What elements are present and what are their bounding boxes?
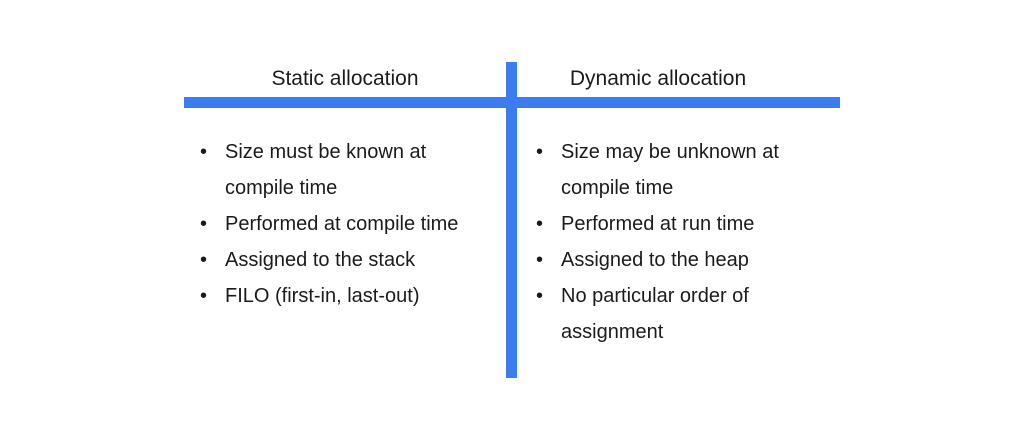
list-item: • Assigned to the heap	[535, 242, 845, 278]
list-item-label: Assigned to the stack	[225, 242, 499, 278]
bullet-point-icon: •	[200, 278, 214, 314]
vertical-divider-rule	[506, 62, 517, 378]
list-item-label: Performed at compile time	[225, 206, 499, 242]
list-item-label: Size must be known at compile time	[225, 134, 499, 206]
list-item-label: Performed at run time	[561, 206, 845, 242]
list-item: • Size must be known at compile time	[199, 134, 499, 206]
column-body-dynamic: • Size may be unknown at compile time • …	[535, 134, 845, 350]
list-item: • Performed at run time	[535, 206, 845, 242]
bullet-point-icon: •	[536, 278, 550, 314]
comparison-slide: Static allocation Dynamic allocation • S…	[0, 0, 1024, 431]
bullet-point-icon: •	[536, 206, 550, 242]
list-item: • No particular order of assignment	[535, 278, 845, 350]
column-header-dynamic: Dynamic allocation	[517, 64, 799, 94]
bullet-point-icon: •	[200, 206, 214, 242]
list-item: • Size may be unknown at compile time	[535, 134, 845, 206]
bullet-list-dynamic: • Size may be unknown at compile time • …	[535, 134, 845, 350]
bullet-point-icon: •	[200, 134, 214, 170]
list-item: • Performed at compile time	[199, 206, 499, 242]
bullet-list-static: • Size must be known at compile time • P…	[199, 134, 499, 314]
list-item-label: No particular order of assignment	[561, 278, 845, 350]
bullet-point-icon: •	[536, 134, 550, 170]
bullet-point-icon: •	[200, 242, 214, 278]
list-item: • FILO (first-in, last-out)	[199, 278, 499, 314]
column-header-static: Static allocation	[184, 64, 506, 94]
list-item: • Assigned to the stack	[199, 242, 499, 278]
bullet-point-icon: •	[536, 242, 550, 278]
list-item-label: FILO (first-in, last-out)	[225, 278, 499, 314]
column-body-static: • Size must be known at compile time • P…	[199, 134, 499, 314]
list-item-label: Size may be unknown at compile time	[561, 134, 845, 206]
list-item-label: Assigned to the heap	[561, 242, 845, 278]
